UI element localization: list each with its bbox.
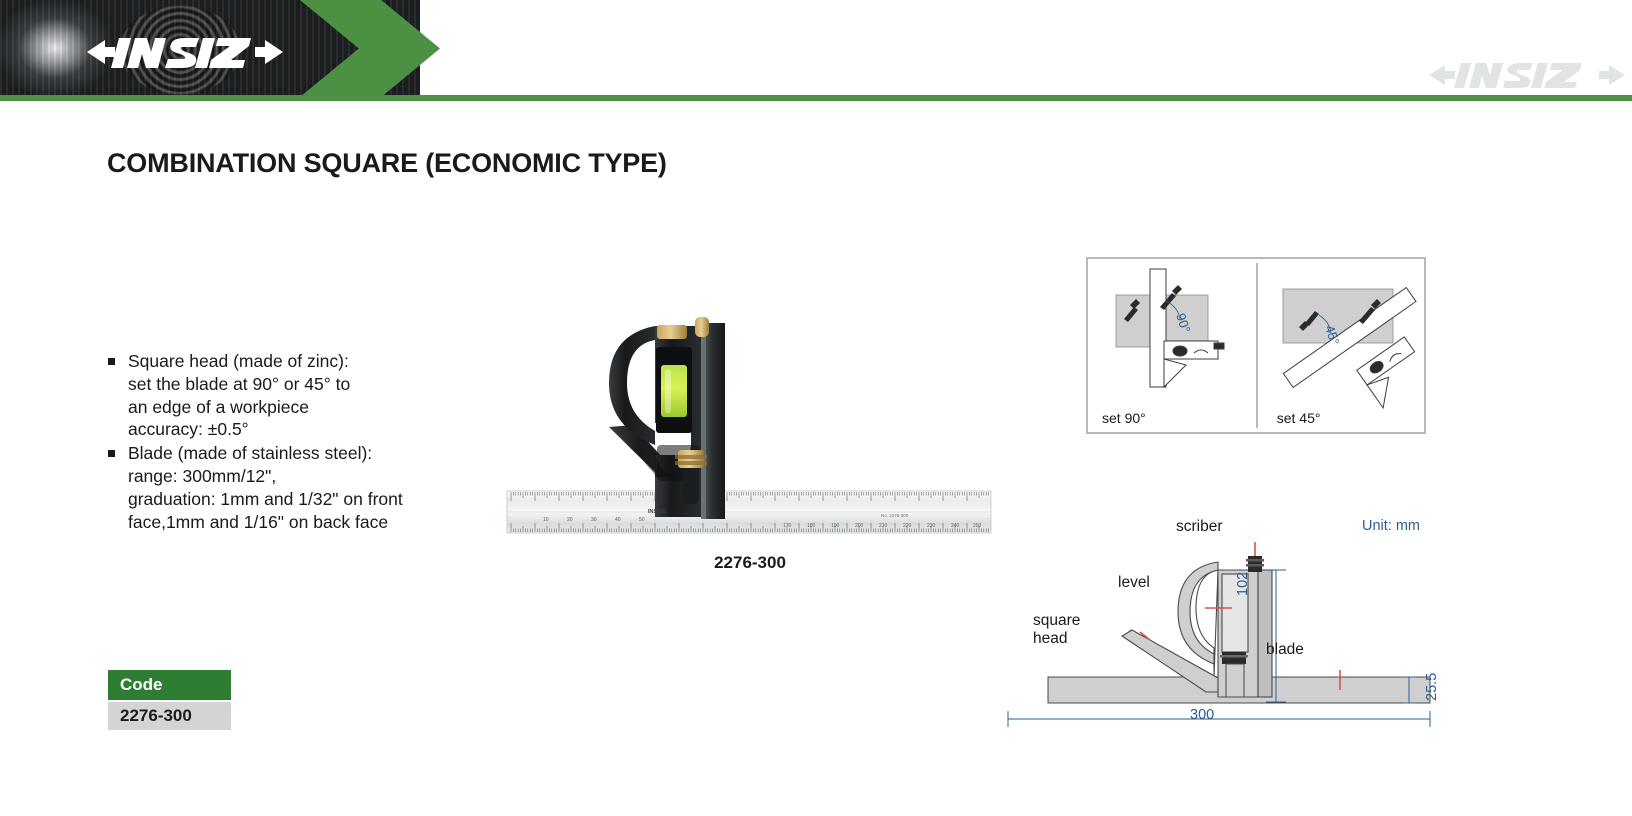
spec-line: Blade (made of stainless steel): [128, 442, 487, 465]
green-divider-line [0, 95, 1632, 101]
brass-top-knob [657, 325, 687, 339]
svg-text:240: 240 [951, 523, 960, 529]
bubble-level-vial [661, 365, 687, 417]
usage-set-45: 45° [1269, 263, 1431, 411]
panel-divider [1256, 263, 1258, 428]
bullet-square-icon [108, 358, 115, 365]
table-row: 2276-300 [108, 701, 231, 730]
cell-code: 2276-300 [108, 701, 231, 730]
svg-text:250: 250 [973, 523, 982, 529]
dimension-length [1008, 711, 1430, 727]
svg-text:10: 10 [543, 517, 549, 523]
svg-text:190: 190 [831, 523, 840, 529]
callout-square-head: square head [1033, 612, 1080, 648]
spec-line: set the blade at 90° or 45° to [128, 373, 487, 396]
usage-caption-90: set 90° [1102, 410, 1146, 426]
svg-text:180: 180 [807, 523, 816, 529]
insize-watermark [1427, 58, 1627, 92]
svg-text:200: 200 [855, 523, 864, 529]
scriber-pin-section [1246, 556, 1264, 572]
svg-text:170: 170 [783, 523, 792, 529]
combination-square-photo: 102030 4050 170180190 200210220 23024025… [505, 295, 995, 545]
svg-text:30: 30 [591, 517, 597, 523]
scriber-pin [695, 317, 709, 337]
spec-bullet-square-head: Square head (made of zinc): set the blad… [107, 350, 487, 441]
product-caption: 2276-300 [505, 553, 995, 573]
svg-text:220: 220 [903, 523, 912, 529]
bullet-square-icon [108, 450, 115, 457]
svg-text:20: 20 [567, 517, 573, 523]
callout-square-head-line2: head [1033, 630, 1080, 648]
spec-bullet-blade: Blade (made of stainless steel): range: … [107, 442, 487, 533]
square-head-icon [1164, 341, 1224, 387]
page-title: COMBINATION SQUARE (ECONOMIC TYPE) [107, 148, 667, 179]
column-header-code: Code [108, 670, 231, 701]
dimension-value-height: 102 [1235, 572, 1251, 596]
code-table: Code 2276-300 [108, 670, 231, 730]
callout-scriber: scriber [1176, 518, 1223, 536]
blade-brand-engraving: INSIZE [648, 509, 666, 515]
svg-text:50: 50 [639, 517, 645, 523]
svg-text:210: 210 [879, 523, 888, 529]
spec-line: range: 300mm/12", [128, 465, 487, 488]
square-head-icon [1356, 337, 1430, 408]
spec-line: graduation: 1mm and 1/32" on front [128, 488, 487, 511]
spec-line: accuracy: ±0.5° [128, 418, 487, 441]
spec-line: face,1mm and 1/16" on back face [128, 511, 487, 534]
usage-set-90: 90° [1094, 263, 1256, 411]
svg-text:230: 230 [927, 523, 936, 529]
svg-text:40: 40 [615, 517, 621, 523]
datasheet-page: COMBINATION SQUARE (ECONOMIC TYPE) Squar… [0, 0, 1632, 816]
callout-level: level [1118, 574, 1150, 592]
page-header-banner [0, 0, 1632, 103]
insize-logo [85, 30, 285, 74]
spec-line: an edge of a workpiece [128, 396, 487, 419]
dimension-value-thickness: 25.5 [1424, 673, 1440, 701]
callout-square-head-line1: square [1033, 612, 1080, 630]
spec-line: Square head (made of zinc): [128, 350, 487, 373]
dimension-value-length: 300 [1190, 707, 1214, 723]
specifications-list: Square head (made of zinc): set the blad… [107, 350, 487, 534]
blade-model-engraving: No. 2276-300 [881, 513, 909, 518]
callout-blade: blade [1266, 641, 1304, 659]
usage-caption-45: set 45° [1277, 410, 1321, 426]
blade-ruler [507, 491, 991, 533]
table-header-row: Code [108, 670, 231, 701]
usage-illustration-panel: 90° set 90° 45° set 4 [1086, 257, 1426, 434]
square-head-body [609, 323, 725, 519]
